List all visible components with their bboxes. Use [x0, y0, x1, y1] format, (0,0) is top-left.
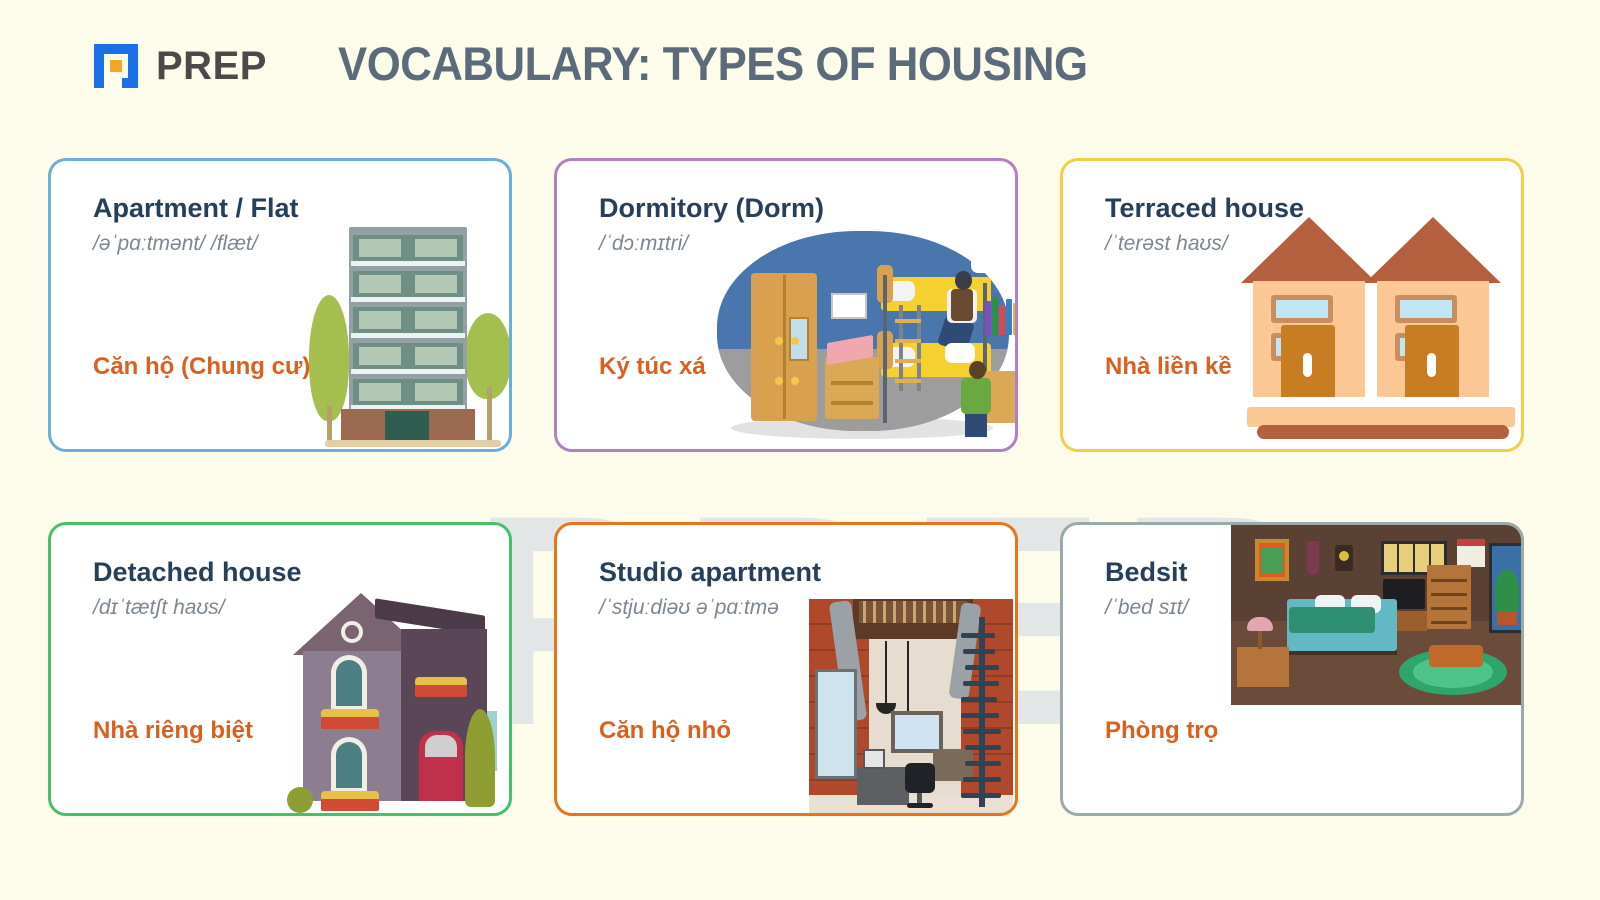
apartment-building-illustration	[307, 209, 512, 449]
card-text-block: Studio apartment /ˈstjuːdiəʊ əˈpɑːtmə	[599, 557, 821, 620]
card-text-block: Dormitory (Dorm) /ˈdɔːmɪtri/	[599, 193, 824, 256]
card-term: Studio apartment	[599, 557, 821, 589]
detached-house-illustration	[279, 581, 505, 813]
card-ipa: /ˈterəst haʊs/	[1105, 232, 1304, 256]
card-term: Bedsit	[1105, 557, 1188, 589]
card-text-block: Apartment / Flat /əˈpɑːtmənt/ /flæt/	[93, 193, 299, 256]
logo-wordmark: PREP	[156, 44, 267, 89]
card-term: Detached house	[93, 557, 302, 589]
card-vietnamese: Ký túc xá	[599, 353, 706, 381]
studio-loft-interior-illustration	[809, 599, 1013, 816]
vocabulary-card-grid: Apartment / Flat /əˈpɑːtmənt/ /flæt/ Căn…	[48, 158, 1552, 816]
vocab-card-bedsit[interactable]: Bedsit /ˈbed sɪt/ Phòng trọ	[1060, 522, 1524, 816]
card-term: Apartment / Flat	[93, 193, 299, 225]
card-vietnamese: Nhà riêng biệt	[93, 717, 253, 745]
card-ipa: /ˈstjuːdiəʊ əˈpɑːtmə	[599, 596, 821, 620]
vocab-card-apartment[interactable]: Apartment / Flat /əˈpɑːtmənt/ /flæt/ Căn…	[48, 158, 512, 452]
dorm-room-bunk-bed-illustration	[717, 231, 1009, 443]
brand-logo: PREP	[88, 38, 267, 94]
vocab-card-detached-house[interactable]: Detached house /dɪˈtætʃt haʊs/ Nhà riêng…	[48, 522, 512, 816]
prep-logo-icon	[88, 38, 144, 94]
card-term: Dormitory (Dorm)	[599, 193, 824, 225]
card-text-block: Detached house /dɪˈtætʃt haʊs/	[93, 557, 302, 620]
infographic-page: P PREP PREP VOCABULARY: TYPES OF HOUSING…	[0, 0, 1600, 900]
card-vietnamese: Phòng trọ	[1105, 717, 1218, 745]
card-text-block: Bedsit /ˈbed sɪt/	[1105, 557, 1188, 620]
card-ipa: /əˈpɑːtmənt/ /flæt/	[93, 232, 299, 256]
vocab-card-studio-apartment[interactable]: Studio apartment /ˈstjuːdiəʊ əˈpɑːtmə Că…	[554, 522, 1018, 816]
card-vietnamese: Căn hộ nhỏ	[599, 717, 731, 745]
card-ipa: /ˈbed sɪt/	[1105, 596, 1188, 620]
card-vietnamese: Nhà liền kề	[1105, 353, 1232, 381]
card-text-block: Terraced house /ˈterəst haʊs/	[1105, 193, 1304, 256]
vocab-card-dormitory[interactable]: Dormitory (Dorm) /ˈdɔːmɪtri/ Ký túc xá	[554, 158, 1018, 452]
vocab-card-terraced-house[interactable]: Terraced house /ˈterəst haʊs/ Nhà liền k…	[1060, 158, 1524, 452]
card-term: Terraced house	[1105, 193, 1304, 225]
card-vietnamese: Căn hộ (Chung cư)	[93, 353, 310, 381]
bedsit-room-interior-illustration	[1231, 525, 1521, 705]
page-title: VOCABULARY: TYPES OF HOUSING	[338, 36, 1088, 91]
card-ipa: /dɪˈtætʃt haʊs/	[93, 596, 302, 620]
card-ipa: /ˈdɔːmɪtri/	[599, 232, 824, 256]
bookshelf	[985, 297, 1017, 335]
header: PREP VOCABULARY: TYPES OF HOUSING	[0, 0, 1600, 140]
